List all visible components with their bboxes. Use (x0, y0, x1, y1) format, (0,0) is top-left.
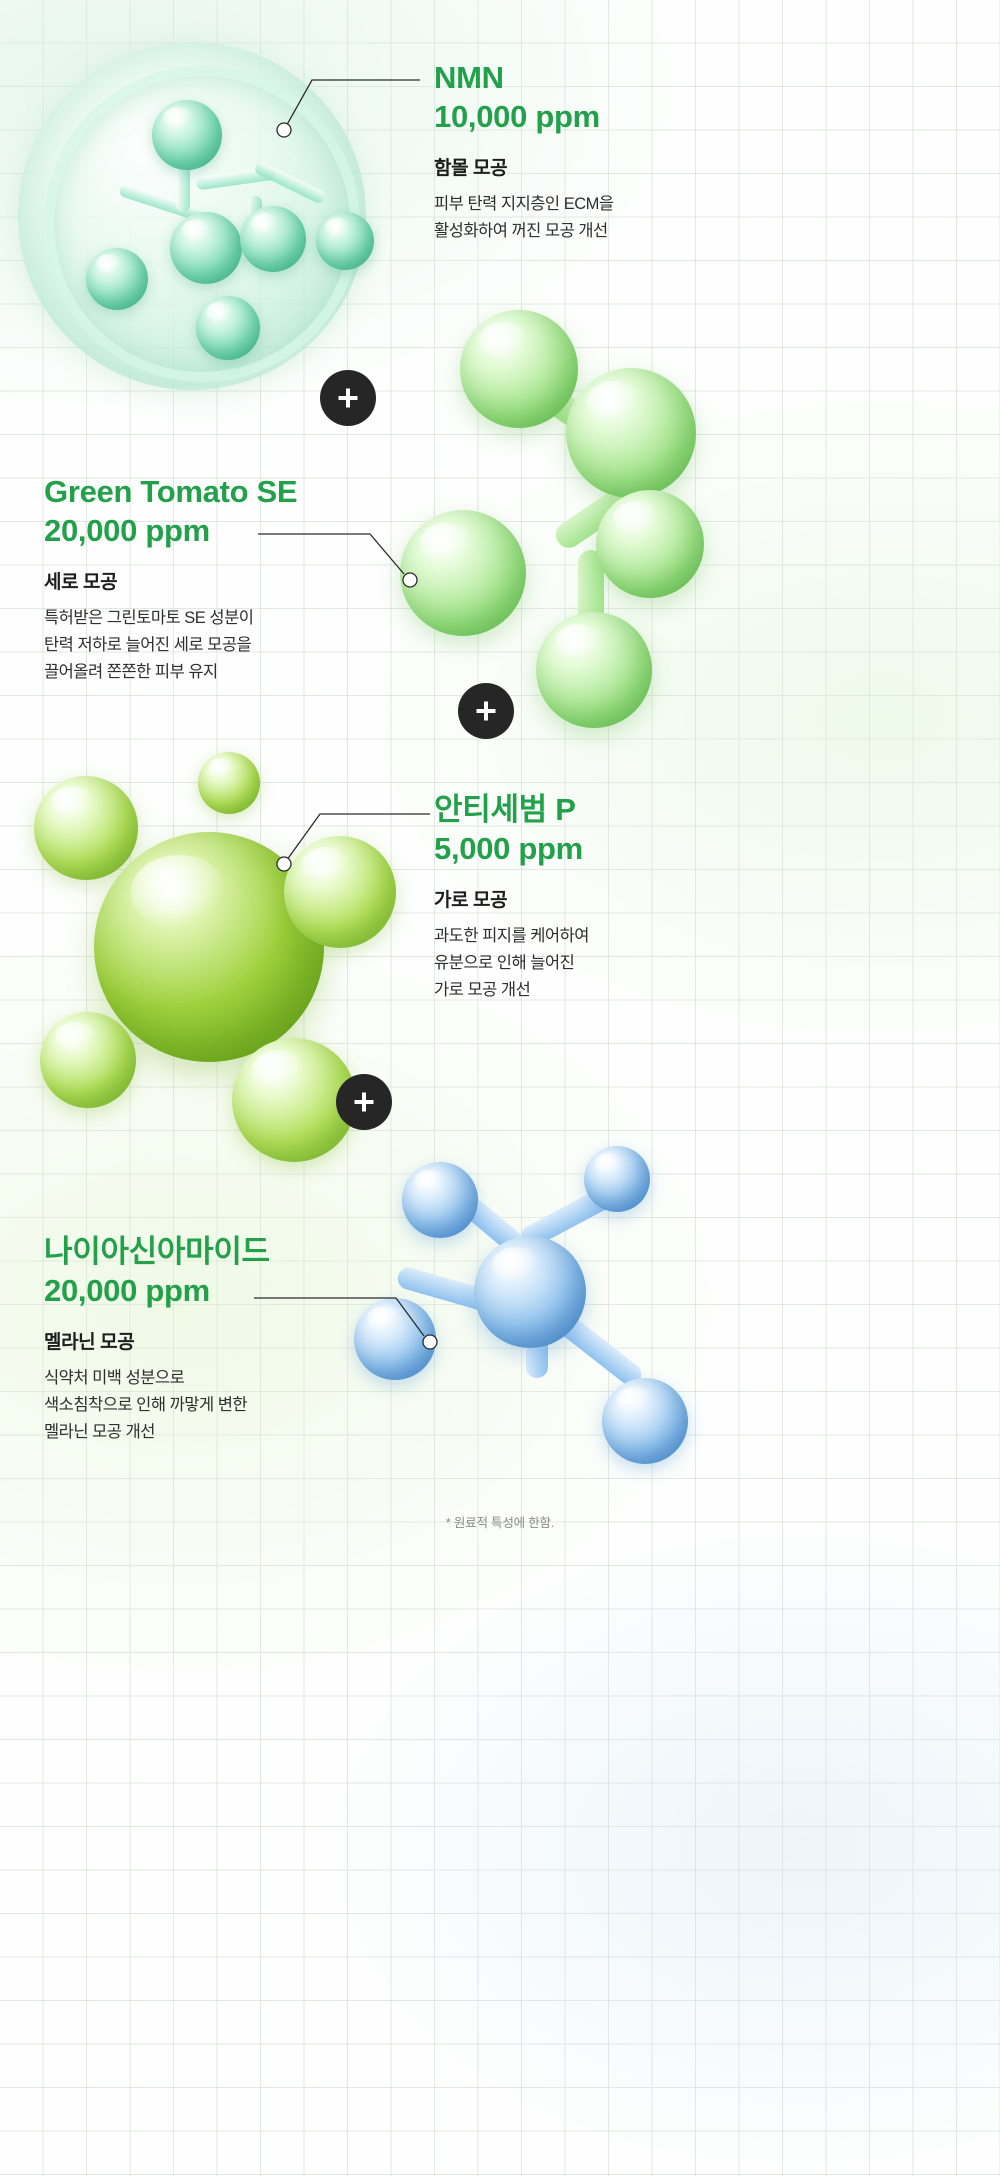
section-green-tomato-se: Green Tomato SE 20,000 ppm 세로 모공 특허받은 그린… (44, 472, 404, 685)
anti-sebum-subtitle: 가로 모공 (434, 885, 744, 912)
nmn-title: NMN 10,000 ppm (434, 58, 734, 136)
nmn-molecule-artwork (0, 0, 400, 430)
niacinamide-molecule-artwork (340, 1140, 1000, 1500)
plus-icon (352, 1090, 376, 1114)
plus-icon (474, 699, 498, 723)
anti-sebum-description: 과도한 피지를 케어하여 유분으로 인해 늘어진 가로 모공 개선 (434, 923, 744, 1003)
background-tint (0, 0, 1000, 2176)
plus-badge-1 (320, 370, 376, 426)
anti-sebum-title: 안티세범 P 5,000 ppm (434, 790, 744, 868)
nmn-subtitle: 함몰 모공 (434, 153, 734, 180)
section-nmn: NMN 10,000 ppm 함몰 모공 피부 탄력 지지층인 ECM을 활성화… (434, 58, 734, 245)
section-anti-sebum-p: 안티세범 P 5,000 ppm 가로 모공 과도한 피지를 케어하여 유분으로… (434, 790, 744, 1003)
anti-sebum-leader-line (270, 796, 440, 876)
niacinamide-description: 식약처 미백 성분으로 색소침착으로 인해 까맣게 변한 멜라닌 모공 개선 (44, 1365, 424, 1445)
green-tomato-molecule-artwork (380, 300, 1000, 740)
niacinamide-subtitle: 멜라닌 모공 (44, 1327, 424, 1354)
green-tomato-title: Green Tomato SE 20,000 ppm (44, 472, 404, 550)
infographic-page: NMN 10,000 ppm 함몰 모공 피부 탄력 지지층인 ECM을 활성화… (0, 0, 1000, 2176)
section-niacinamide: 나이아신아마이드 20,000 ppm 멜라닌 모공 식약처 미백 성분으로 색… (44, 1232, 424, 1445)
green-tomato-description: 특허받은 그린토마토 SE 성분이 탄력 저하로 늘어진 세로 모공을 끌어올려… (44, 605, 404, 685)
plus-badge-3 (336, 1074, 392, 1130)
footnote: * 원료적 특성에 한함. (0, 1512, 1000, 1531)
nmn-leader-line (270, 62, 430, 142)
niacinamide-title: 나이아신아마이드 20,000 ppm (44, 1232, 424, 1310)
nmn-description: 피부 탄력 지지층인 ECM을 활성화하여 꺼진 모공 개선 (434, 191, 734, 244)
green-tomato-subtitle: 세로 모공 (44, 567, 404, 594)
plus-icon (336, 386, 360, 410)
plus-badge-2 (458, 683, 514, 739)
